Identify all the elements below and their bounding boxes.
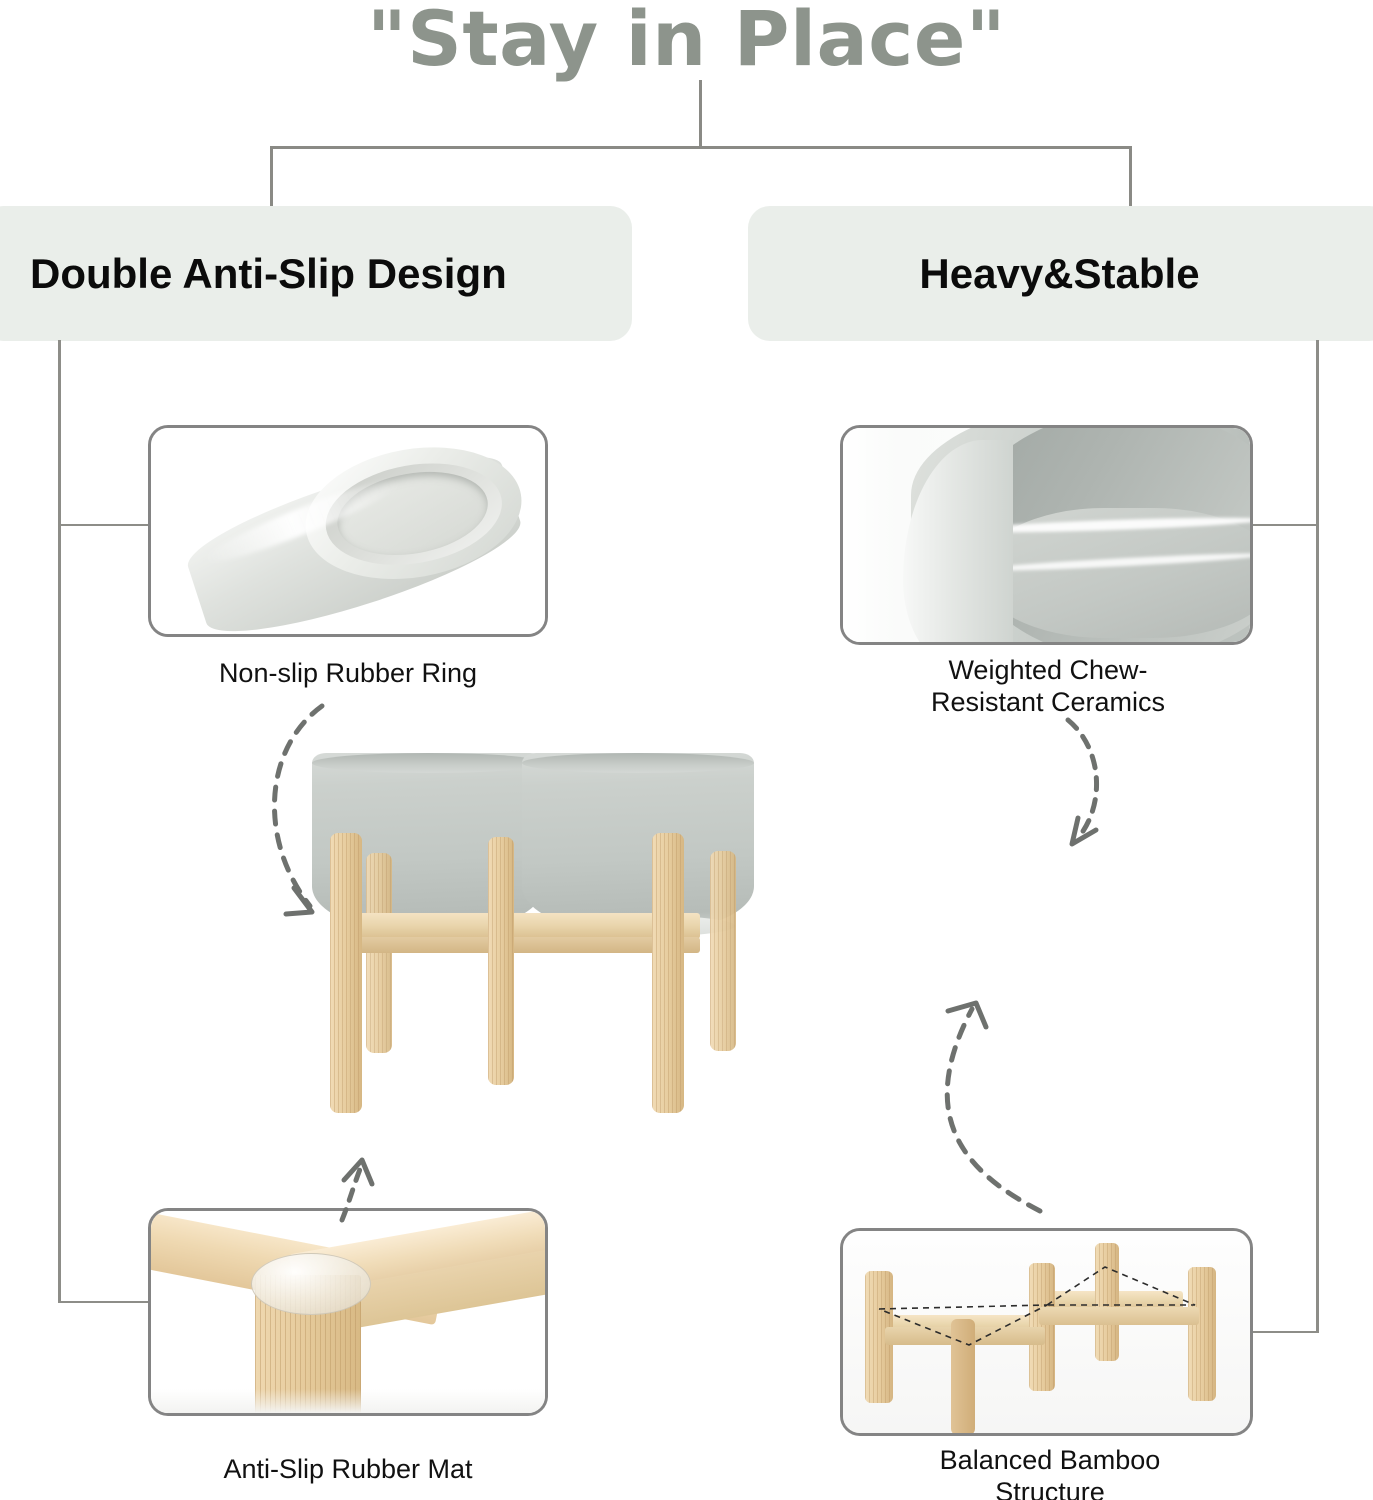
edge-highlight <box>843 428 899 645</box>
tilted-bowl-illustration <box>151 428 545 634</box>
bowl-lip <box>522 753 754 773</box>
caption-non-slip-rubber-ring: Non-slip Rubber Ring <box>128 658 568 690</box>
arrow-mat-to-foot <box>320 1150 420 1230</box>
bamboo-corner-illustration <box>151 1211 545 1413</box>
arrow-structure-to-stand <box>890 965 1090 1225</box>
floor-shadow <box>151 1389 545 1413</box>
stand-leg-back-right <box>710 851 736 1051</box>
photo-inset-balanced-bamboo-structure <box>840 1228 1253 1436</box>
category-label-double-anti-slip: Double Anti-Slip Design <box>30 250 507 298</box>
connector-drop-right <box>1129 146 1132 211</box>
caption-line-1: Weighted Chew- <box>880 655 1216 687</box>
photo-inset-anti-slip-rubber-mat <box>148 1208 548 1416</box>
category-box-heavy-stable: Heavy&Stable <box>748 206 1373 341</box>
caption-line-2: Structure <box>860 1477 1240 1500</box>
stand-leg-front-right <box>652 833 684 1113</box>
bracket-branch-bottom-left <box>58 1301 158 1303</box>
bamboo-structure-illustration <box>843 1231 1250 1433</box>
caption-anti-slip-rubber-mat: Anti-Slip Rubber Mat <box>128 1454 568 1486</box>
photo-inset-non-slip-rubber-ring <box>148 425 548 637</box>
bracket-branch-top-right <box>1253 524 1319 526</box>
connector-horizontal-bar <box>270 146 1132 149</box>
infographic-canvas: "Stay in Place" Double Anti-Slip Design … <box>0 0 1373 1500</box>
category-box-double-anti-slip: Double Anti-Slip Design <box>0 206 632 341</box>
arrow-ceramics-to-bowl <box>1030 710 1150 870</box>
arrow-ring-to-bowl <box>250 700 450 940</box>
bracket-branch-bottom-right <box>1253 1331 1319 1333</box>
photo-inset-weighted-chew-resistant-ceramics <box>840 425 1253 645</box>
bowl-interior-illustration <box>843 428 1250 642</box>
page-title: "Stay in Place" <box>0 0 1373 83</box>
bracket-vertical-right <box>1316 340 1319 1333</box>
rubber-mat-pad <box>251 1253 371 1315</box>
caption-balanced-bamboo-structure: Balanced Bamboo Structure <box>860 1445 1240 1500</box>
caption-line-1: Balanced Bamboo <box>860 1445 1240 1477</box>
structure-balance-triangles <box>843 1231 1253 1436</box>
connector-title-stem <box>699 80 702 148</box>
stand-center-post <box>488 837 514 1085</box>
bracket-branch-top-left <box>58 524 158 526</box>
category-label-heavy-stable: Heavy&Stable <box>919 250 1199 298</box>
bracket-vertical-left <box>58 340 61 1303</box>
connector-drop-left <box>270 146 273 211</box>
